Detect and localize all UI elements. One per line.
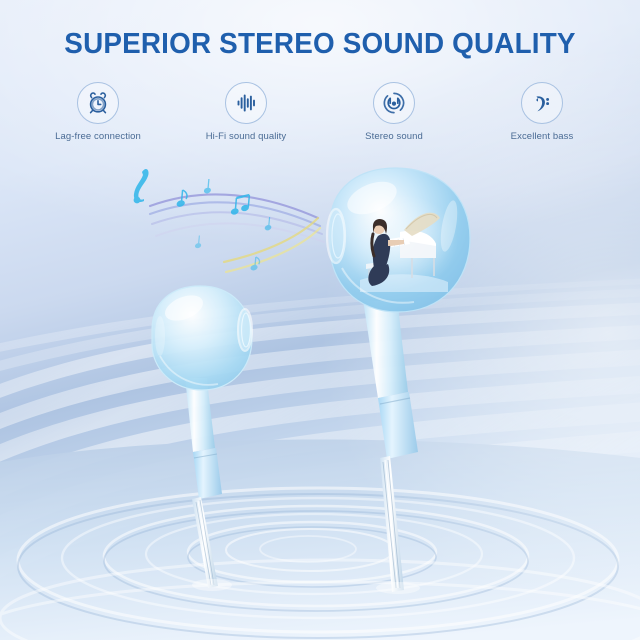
feature-label: Lag-free connection [55,131,141,142]
feature-label: Hi-Fi sound quality [206,131,287,142]
bass-clef-icon [521,82,563,124]
feature-item-lag-free: Lag-free connection [37,82,159,142]
feature-list: Lag-free connection Hi-Fi sound quality [0,82,640,142]
feature-label: Stereo sound [365,131,423,142]
alarm-clock-icon [77,82,119,124]
feature-item-hifi: Hi-Fi sound quality [185,82,307,142]
stereo-speaker-icon [373,82,415,124]
sound-wave-icon [225,82,267,124]
page-title: SUPERIOR STEREO SOUND QUALITY [13,28,627,61]
poster-canvas: SUPERIOR STEREO SOUND QUALITY Lag-free c… [0,0,640,640]
feature-item-bass: Excellent bass [481,82,603,142]
feature-item-stereo: Stereo sound [333,82,455,142]
feature-label: Excellent bass [511,131,574,142]
